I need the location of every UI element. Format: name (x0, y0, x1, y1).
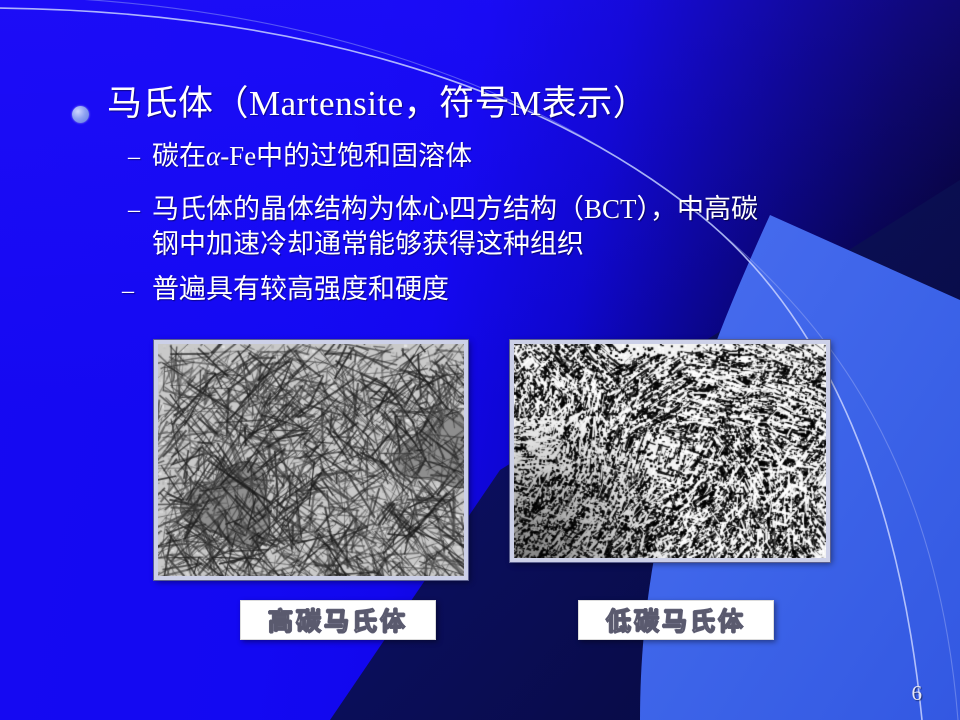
bullet-text-1-b: -Fe中的过饱和固溶体 (220, 141, 472, 171)
bullet-marker-1: – (128, 144, 140, 171)
bullet-text-3: 普遍具有较高强度和硬度 (152, 272, 852, 307)
bullet-text-1-emphasis: α (206, 141, 220, 171)
figure-high-carbon-martensite (154, 340, 468, 580)
caption-plate-high-carbon: 高碳马氏体 (240, 600, 436, 640)
figure-low-carbon-martensite (510, 340, 830, 562)
bullet-text-1-a: 碳在 (152, 141, 206, 171)
page-number: 6 (912, 681, 923, 706)
micrograph-image-high-carbon (158, 344, 464, 576)
bullet-text-1: 碳在α-Fe中的过饱和固溶体 (152, 139, 852, 174)
round-bullet-icon (72, 106, 89, 123)
slide-content: 马氏体（Martensite，符号M表示） – 碳在α-Fe中的过饱和固溶体 –… (0, 0, 960, 720)
caption-plate-low-carbon: 低碳马氏体 (578, 600, 774, 640)
micrograph-image-low-carbon (514, 344, 826, 558)
bullet-text-2: 马氏体的晶体结构为体心四方结构（BCT），中高碳 钢中加速冷却通常能够获得这种组… (152, 192, 912, 262)
bullet-text-2-line2: 钢中加速冷却通常能够获得这种组织 (152, 227, 912, 262)
caption-text-low-carbon: 低碳马氏体 (606, 602, 746, 638)
slide-canvas: 马氏体（Martensite，符号M表示） – 碳在α-Fe中的过饱和固溶体 –… (0, 0, 960, 720)
bullet-marker-2: – (128, 197, 140, 224)
bullet-marker-3: – (122, 278, 134, 305)
caption-text-high-carbon: 高碳马氏体 (268, 602, 408, 638)
title-bullet-row: 马氏体（Martensite，符号M表示） (72, 84, 892, 123)
page-title: 马氏体（Martensite，符号M表示） (107, 84, 648, 123)
bullet-text-2-line1: 马氏体的晶体结构为体心四方结构（BCT），中高碳 (152, 192, 912, 227)
